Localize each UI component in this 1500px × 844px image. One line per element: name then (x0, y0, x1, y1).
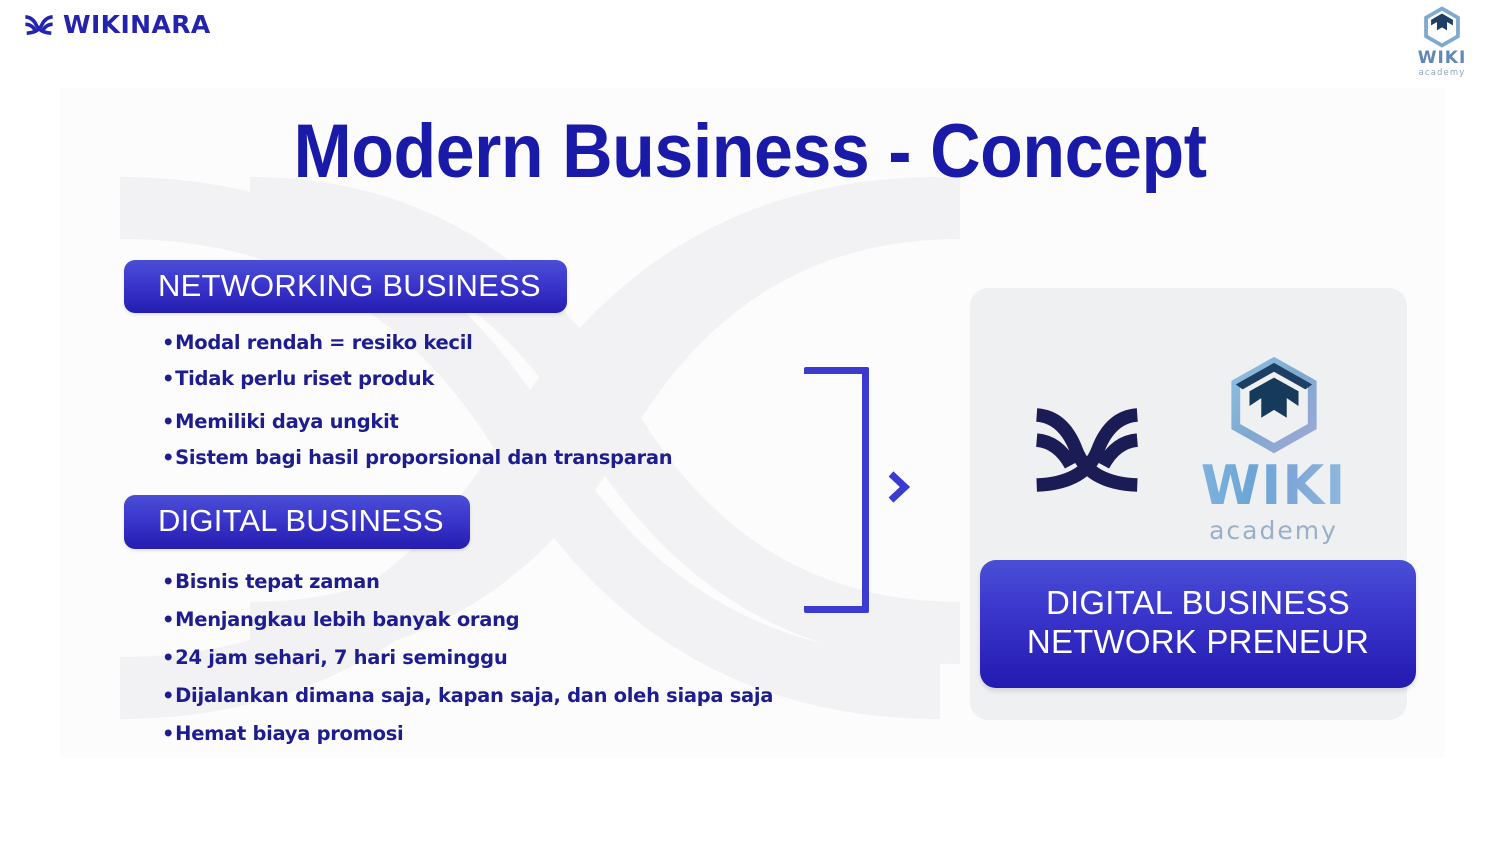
page-title: Modern Business - Concept (60, 108, 1440, 195)
wiki-corner-sub: academy (1419, 69, 1466, 78)
cta-line-2: NETWORK PRENEUR (990, 623, 1406, 662)
cta-line-1: DIGITAL BUSINESS (990, 584, 1406, 623)
wiki-word: WIKI (1201, 459, 1347, 513)
wikinara-arcs-icon (24, 14, 54, 36)
wiki-academy-corner-logo: WIKI academy (1406, 6, 1478, 78)
right-bracket-icon (804, 367, 869, 613)
result-logo-row: WIKI academy (970, 350, 1407, 550)
wiki-hexagon-w-icon (1421, 6, 1463, 48)
section-digital: DIGITAL BUSINESS Bisnis tepat zaman Menj… (124, 495, 824, 744)
list-item: Hemat biaya promosi (162, 722, 824, 745)
section-networking: NETWORKING BUSINESS Modal rendah = resik… (124, 260, 824, 469)
list-item: Dijalankan dimana saja, kapan saja, dan … (162, 684, 824, 707)
content-column: NETWORKING BUSINESS Modal rendah = resik… (124, 260, 824, 745)
brand-name: WIKINARA (63, 12, 211, 37)
wikinara-arcs-icon (1031, 406, 1143, 494)
list-item: Tidak perlu riset produk (162, 367, 824, 390)
wiki-academy-logo: WIKI academy (1201, 357, 1347, 543)
chevron-right-icon (885, 470, 911, 504)
section-heading-networking: NETWORKING BUSINESS (124, 260, 567, 313)
wiki-sub: academy (1209, 518, 1338, 543)
brand-logo: WIKINARA (24, 12, 211, 37)
list-item: 24 jam sehari, 7 hari seminggu (162, 646, 824, 669)
wiki-corner-word: WIKI (1418, 50, 1467, 67)
wiki-hexagon-w-icon (1225, 357, 1323, 455)
bullet-list-digital: Bisnis tepat zaman Menjangkau lebih bany… (124, 570, 824, 745)
list-item: Sistem bagi hasil proporsional dan trans… (162, 446, 824, 469)
bullet-list-networking: Modal rendah = resiko kecil Tidak perlu … (124, 331, 824, 469)
list-item: Modal rendah = resiko kecil (162, 331, 824, 354)
section-heading-digital: DIGITAL BUSINESS (124, 495, 470, 548)
list-item: Memiliki daya ungkit (162, 410, 824, 433)
list-item: Bisnis tepat zaman (162, 570, 824, 593)
list-item: Menjangkau lebih banyak orang (162, 608, 824, 631)
cta-banner: DIGITAL BUSINESS NETWORK PRENEUR (980, 560, 1416, 688)
